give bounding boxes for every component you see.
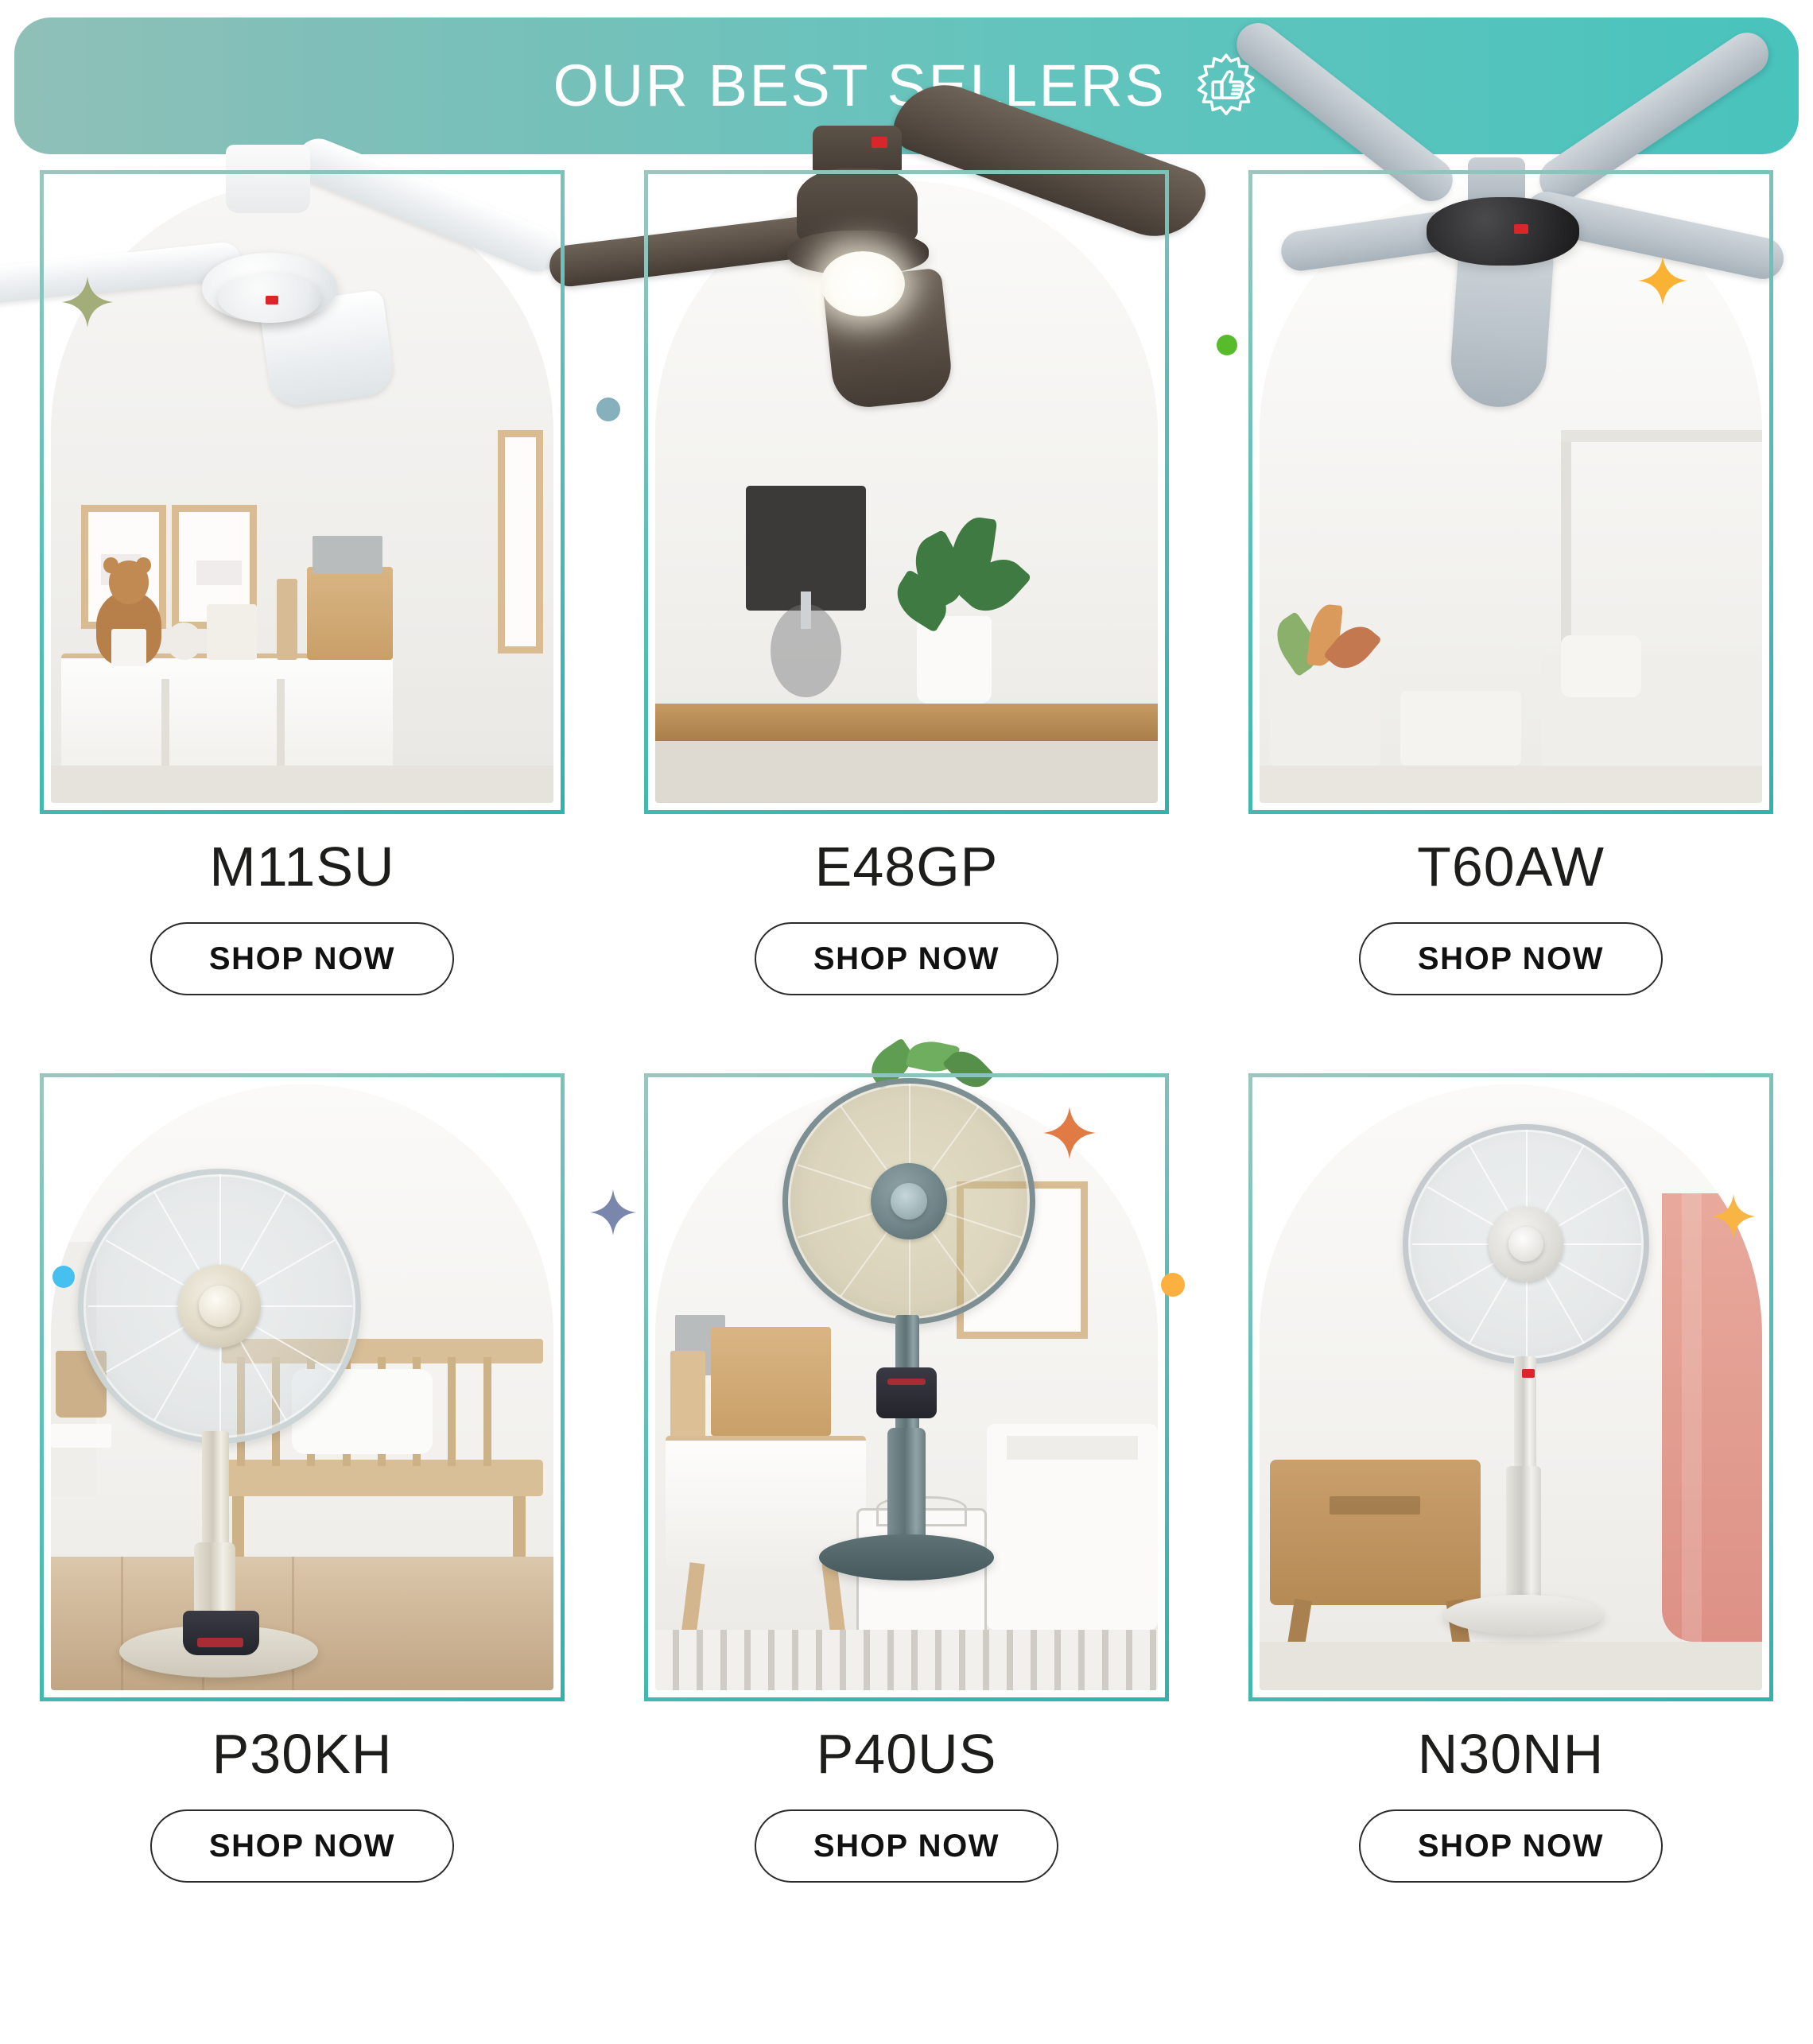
sparkle-amber-icon [1638, 256, 1687, 305]
pedestal-fan-silver [1384, 1124, 1702, 1681]
sparkle-orange-icon [1043, 1107, 1096, 1159]
product-code: E48GP [604, 835, 1209, 898]
shop-now-button[interactable]: SHOP NOW [755, 1809, 1058, 1883]
product-code: N30NH [1209, 1722, 1813, 1786]
product-card[interactable]: N30NH SHOP NOW [1209, 995, 1813, 1883]
product-code: M11SU [0, 835, 604, 898]
product-image-frame [1248, 1073, 1773, 1701]
pedestal-fan-champagne [78, 1169, 412, 1677]
dot-yellow [1161, 1273, 1185, 1297]
shop-now-button[interactable]: SHOP NOW [1359, 922, 1663, 995]
product-grid: M11SU SHOP NOW [0, 159, 1813, 1883]
sparkle-gold-icon [1711, 1194, 1756, 1239]
shop-now-button[interactable]: SHOP NOW [755, 922, 1058, 995]
product-image-frame [644, 170, 1169, 814]
sparkle-olive-icon [62, 277, 113, 328]
product-image-frame [644, 1073, 1169, 1701]
pedestal-fan-teal [752, 1041, 1086, 1677]
shop-now-button[interactable]: SHOP NOW [150, 922, 454, 995]
product-card[interactable]: T60AW SHOP NOW [1209, 159, 1813, 995]
product-card[interactable]: P30KH SHOP NOW [0, 995, 604, 1883]
shop-now-button[interactable]: SHOP NOW [150, 1809, 454, 1883]
ceiling-fan-grey-5blade [1147, 46, 1813, 412]
product-image-frame [40, 1073, 565, 1701]
product-code: P40US [604, 1722, 1209, 1786]
product-code: P30KH [0, 1722, 604, 1786]
product-card[interactable]: P40US SHOP NOW [604, 995, 1209, 1883]
dot-steel-blue [596, 398, 620, 421]
dot-green [1217, 335, 1237, 355]
dot-sky-blue [52, 1266, 75, 1288]
product-card[interactable]: E48GP SHOP NOW [604, 159, 1209, 995]
product-image-frame [1248, 170, 1773, 814]
product-code: T60AW [1209, 835, 1813, 898]
shop-now-button[interactable]: SHOP NOW [1359, 1809, 1663, 1883]
sparkle-periwinkle-icon [590, 1189, 636, 1235]
product-image-frame [40, 170, 565, 814]
